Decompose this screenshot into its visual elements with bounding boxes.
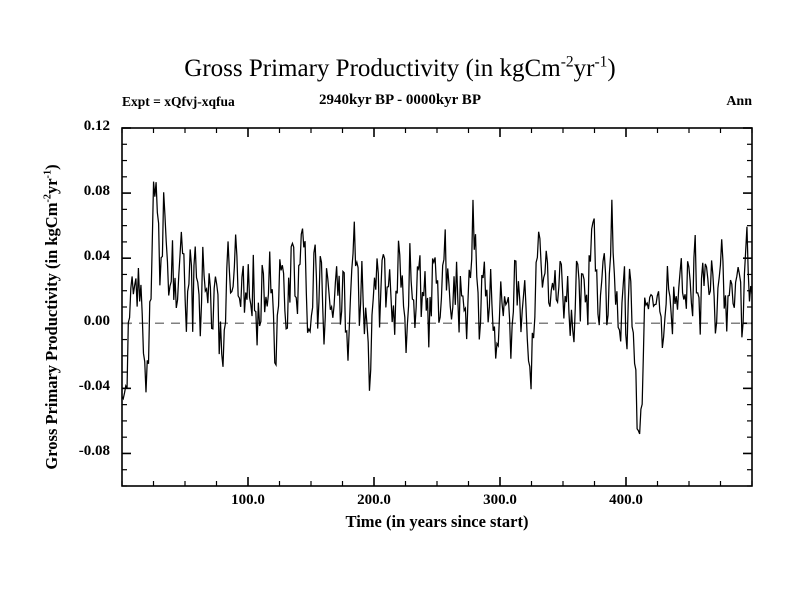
chart-title: Gross Primary Productivity (in kgCm-2yr-… — [0, 55, 800, 83]
annual-mean-label: Ann — [726, 94, 752, 110]
chart-title-exponent-2: -1 — [594, 54, 607, 71]
plot-area — [0, 0, 800, 600]
chart-title-mid: yr — [574, 55, 595, 82]
figure-canvas: Gross Primary Productivity (in kgCm-2yr-… — [0, 0, 800, 600]
y-tick-label: 0.08 — [40, 183, 110, 200]
y-tick-label: -0.04 — [40, 378, 110, 395]
chart-title-exponent-1: -2 — [561, 54, 574, 71]
y-tick-label: -0.08 — [40, 443, 110, 460]
x-tick-label: 200.0 — [329, 492, 419, 509]
y-tick-label: 0.12 — [40, 118, 110, 135]
y-axis-title-end: ) — [42, 164, 61, 170]
y-tick-label: 0.04 — [40, 248, 110, 265]
chart-title-main: Gross Primary Productivity (in kgCm — [184, 55, 560, 82]
series-line-0 — [122, 182, 752, 434]
experiment-label: Expt = xQfvj-xqfua — [122, 94, 235, 110]
x-axis-title: Time (in years since start) — [122, 512, 752, 532]
y-axis-title-exponent-2: -1 — [43, 170, 54, 179]
x-tick-label: 400.0 — [581, 492, 671, 509]
chart-title-end: ) — [607, 55, 615, 82]
x-tick-label: 300.0 — [455, 492, 545, 509]
y-tick-label: 0.00 — [40, 313, 110, 330]
x-tick-label: 100.0 — [203, 492, 293, 509]
y-axis-title-main: Gross Primary Productivity (in kgCm — [42, 203, 61, 470]
plot-frame — [122, 128, 752, 486]
chart-subtitle: 2940kyr BP - 0000kyr BP — [0, 92, 800, 109]
